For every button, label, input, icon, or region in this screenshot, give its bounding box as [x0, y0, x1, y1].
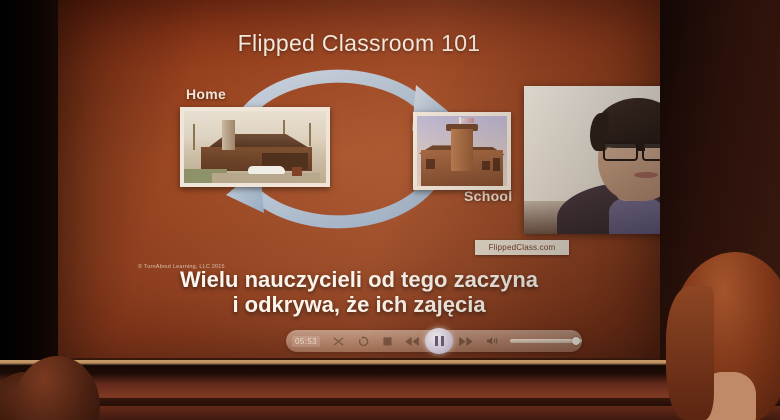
stop-icon[interactable] — [375, 331, 400, 351]
volume-slider-knob[interactable] — [572, 337, 580, 345]
slide-title: Flipped Classroom 101 — [58, 30, 660, 57]
projection-room-scene: Flipped Classroom 101 Home School — [0, 0, 780, 420]
audience-right-hair-strand — [666, 286, 714, 420]
video-panel-speaker[interactable] — [524, 86, 660, 234]
label-home: Home — [186, 86, 226, 102]
loop-icon[interactable] — [351, 331, 376, 351]
shuffle-icon[interactable] — [326, 331, 351, 351]
photo-home — [180, 107, 330, 187]
photo-school — [413, 112, 511, 190]
subtitle-overlay: Wielu nauczycieli od tego zaczyna i odkr… — [118, 268, 600, 317]
glasses-left-lens — [603, 142, 638, 161]
media-player-bar[interactable] — [286, 330, 582, 352]
label-school: School — [464, 188, 512, 204]
subtitle-line-1: Wielu nauczycieli od tego zaczyna — [180, 267, 538, 292]
fast-forward-icon[interactable] — [453, 331, 478, 351]
room-wall-lower — [0, 360, 780, 420]
glasses-right-lens — [642, 142, 660, 161]
rewind-icon[interactable] — [400, 331, 425, 351]
pause-icon[interactable] — [425, 328, 454, 354]
volume-icon[interactable] — [480, 331, 506, 351]
volume-slider[interactable] — [510, 339, 582, 343]
subtitle-line-2: i odkrywa, że ich zajęcia — [118, 293, 600, 318]
flippedclass-badge: FlippedClass.com — [475, 240, 569, 255]
room-trim-strip — [0, 398, 780, 406]
projection-screen: Flipped Classroom 101 Home School — [58, 0, 660, 366]
